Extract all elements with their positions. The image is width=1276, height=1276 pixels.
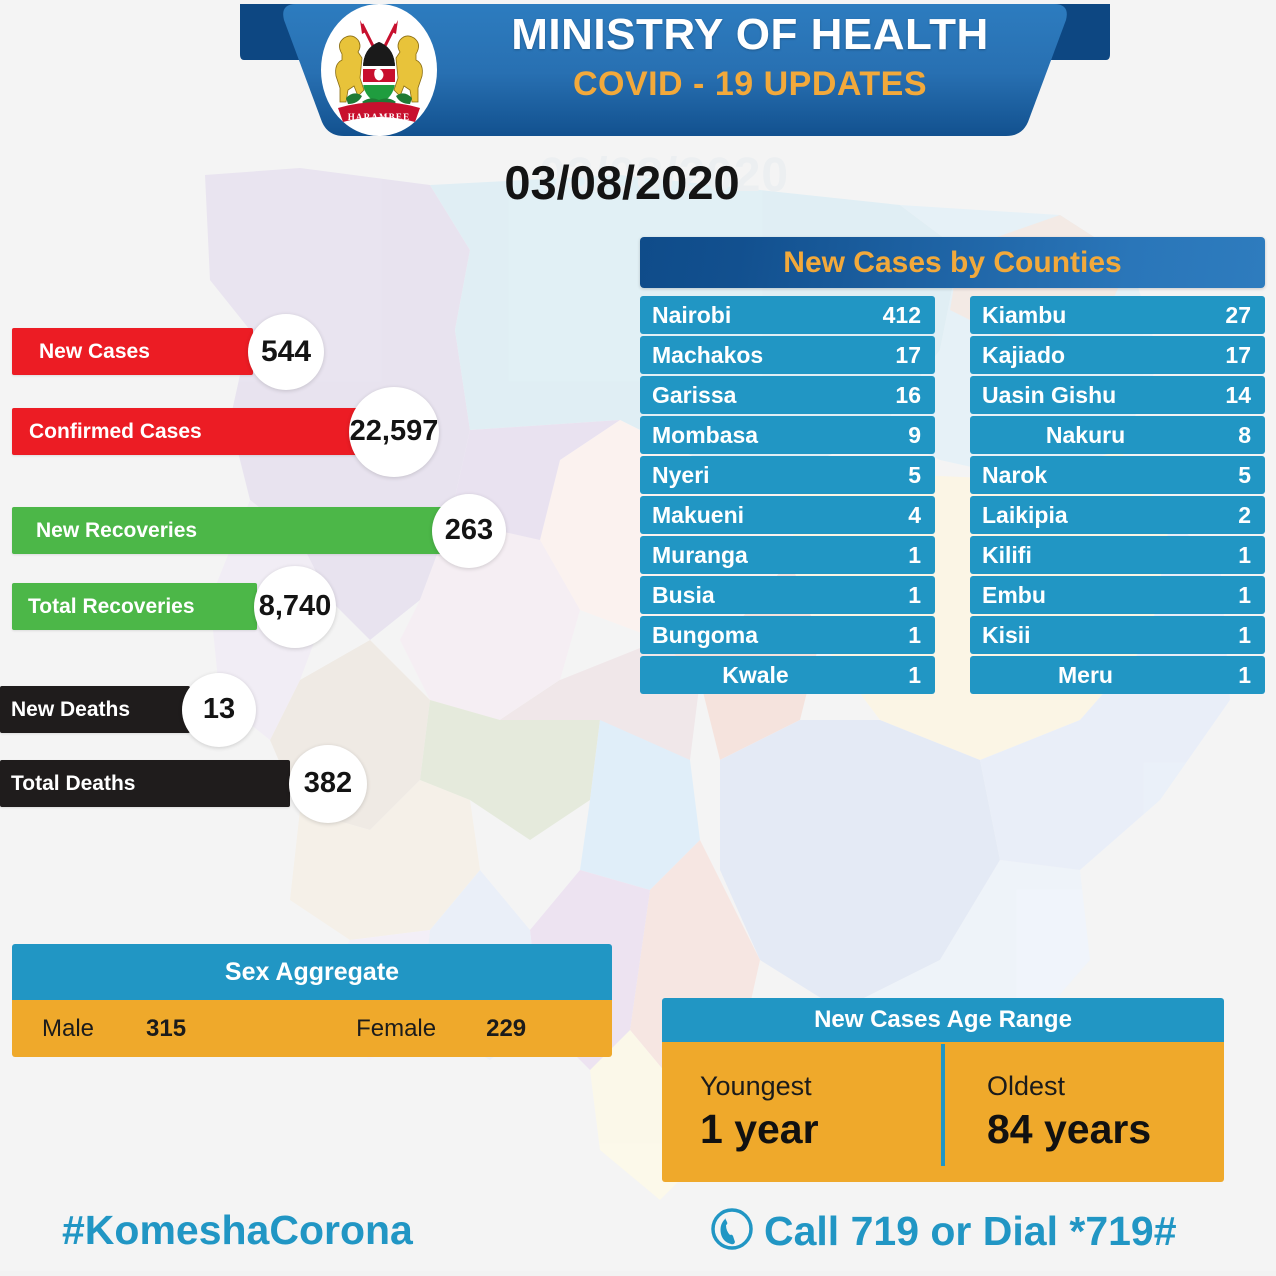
county-row[interactable]: Embu1 [970, 576, 1265, 614]
counties-panel-title: New Cases by Counties [783, 246, 1121, 280]
stat-label: New Deaths [11, 698, 130, 722]
youngest-value: 1 year [700, 1106, 937, 1153]
county-name: Makueni [652, 502, 863, 529]
county-row[interactable]: Garissa16 [640, 376, 935, 414]
county-row[interactable]: Makueni4 [640, 496, 935, 534]
hashtag-komeshacorona: #KomeshaCorona [62, 1207, 413, 1254]
stat-new-cases: New Cases 544 [12, 328, 352, 375]
county-value: 5 [1193, 462, 1251, 489]
county-name: Garissa [652, 382, 863, 409]
county-value: 2 [1193, 502, 1251, 529]
county-name: Busia [652, 582, 863, 609]
stat-value: 13 [203, 693, 235, 726]
county-value: 17 [863, 342, 921, 369]
county-value: 14 [1193, 382, 1251, 409]
stat-label: Total Deaths [11, 772, 135, 796]
county-value: 1 [863, 582, 921, 609]
county-name: Embu [982, 582, 1193, 609]
county-name: Machakos [652, 342, 863, 369]
new-cases-by-counties-panel: New Cases by Counties Nairobi412 Machako… [640, 237, 1265, 696]
county-value: 1 [1193, 662, 1251, 689]
age-range-divider [941, 1044, 945, 1166]
county-name: Bungoma [652, 622, 863, 649]
county-row[interactable]: Meru1 [970, 656, 1265, 694]
county-row[interactable]: Narok5 [970, 456, 1265, 494]
county-value: 5 [863, 462, 921, 489]
county-row[interactable]: Nyeri5 [640, 456, 935, 494]
county-row[interactable]: Kajiado17 [970, 336, 1265, 374]
stat-value-bubble: 544 [248, 314, 324, 390]
county-value: 1 [1193, 542, 1251, 569]
county-value: 4 [863, 502, 921, 529]
county-value: 412 [863, 302, 921, 329]
stat-label: New Recoveries [36, 519, 197, 543]
report-date: 03/08/2020 [0, 155, 1260, 210]
stat-value: 544 [261, 335, 311, 369]
county-name: Mombasa [652, 422, 863, 449]
header-text-group: MINISTRY OF HEALTH COVID - 19 UPDATES [420, 8, 1080, 106]
county-row[interactable]: Busia1 [640, 576, 935, 614]
oldest-label: Oldest [987, 1071, 1224, 1102]
svg-text:HARAMBEE: HARAMBEE [348, 112, 411, 122]
county-value: 27 [1193, 302, 1251, 329]
stat-label: Total Recoveries [28, 595, 195, 619]
county-name: Kilifi [982, 542, 1193, 569]
female-value: 229 [486, 1015, 526, 1043]
county-name: Kajiado [982, 342, 1193, 369]
stat-value-bubble: 8,740 [254, 566, 336, 648]
call-text: Call 719 or Dial *719# [764, 1208, 1177, 1255]
county-name: Uasin Gishu [982, 382, 1193, 409]
stat-value: 22,597 [350, 415, 439, 448]
county-name: Nairobi [652, 302, 863, 329]
age-range-title: New Cases Age Range [662, 998, 1224, 1042]
county-name: Meru [982, 662, 1193, 689]
county-row[interactable]: Nairobi412 [640, 296, 935, 334]
county-name: Kiambu [982, 302, 1193, 329]
counties-column-right: Kiambu27 Kajiado17 Uasin Gishu14 Nakuru8… [970, 296, 1265, 696]
county-value: 16 [863, 382, 921, 409]
stat-value-bubble: 13 [182, 673, 256, 747]
oldest-block: Oldest 84 years [937, 1042, 1224, 1182]
county-value: 1 [1193, 622, 1251, 649]
female-label: Female [356, 1015, 436, 1043]
county-row[interactable]: Mombasa9 [640, 416, 935, 454]
phone-circle-icon [710, 1207, 754, 1256]
sex-aggregate-title: Sex Aggregate [12, 944, 612, 1000]
county-row[interactable]: Machakos17 [640, 336, 935, 374]
county-value: 1 [863, 622, 921, 649]
county-row[interactable]: Kilifi1 [970, 536, 1265, 574]
county-row[interactable]: Muranga1 [640, 536, 935, 574]
county-row[interactable]: Kisii1 [970, 616, 1265, 654]
stat-new-deaths: New Deaths 13 [0, 686, 320, 733]
county-value: 1 [863, 542, 921, 569]
youngest-label: Youngest [700, 1071, 937, 1102]
stat-value-bubble: 22,597 [349, 387, 439, 477]
county-value: 1 [863, 662, 921, 689]
page-title: MINISTRY OF HEALTH [420, 8, 1080, 62]
county-name: Kisii [982, 622, 1193, 649]
stat-total-recoveries: Total Recoveries 8,740 [12, 583, 392, 630]
county-name: Muranga [652, 542, 863, 569]
county-row[interactable]: Laikipia2 [970, 496, 1265, 534]
county-value: 17 [1193, 342, 1251, 369]
age-range-values: Youngest 1 year Oldest 84 years [662, 1042, 1224, 1182]
stat-label: New Cases [39, 340, 150, 364]
county-row[interactable]: Uasin Gishu14 [970, 376, 1265, 414]
stat-confirmed-cases: Confirmed Cases 22,597 [12, 408, 472, 455]
age-range-panel: New Cases Age Range Youngest 1 year Olde… [662, 998, 1224, 1182]
county-value: 1 [1193, 582, 1251, 609]
county-row[interactable]: Nakuru8 [970, 416, 1265, 454]
stat-value-bubble: 382 [289, 745, 367, 823]
call-info: Call 719 or Dial *719# [710, 1207, 1177, 1256]
stat-new-recoveries: New Recoveries 263 [12, 507, 532, 554]
counties-column-left: Nairobi412 Machakos17 Garissa16 Mombasa9… [640, 296, 935, 696]
county-name: Laikipia [982, 502, 1193, 529]
oldest-value: 84 years [987, 1106, 1224, 1153]
page-subtitle: COVID - 19 UPDATES [420, 62, 1080, 106]
male-value: 315 [146, 1015, 186, 1043]
kenya-coat-of-arms-icon: HARAMBEE [312, 2, 446, 138]
header-banner: MINISTRY OF HEALTH COVID - 19 UPDATES [240, 0, 1110, 142]
male-label: Male [42, 1015, 94, 1043]
county-value: 9 [863, 422, 921, 449]
county-name: Narok [982, 462, 1193, 489]
sex-aggregate-values: Male 315 Female 229 [12, 1000, 612, 1057]
footer: #KomeshaCorona Call 719 or Dial *719# [0, 1201, 1276, 1265]
county-name: Nakuru [982, 422, 1193, 449]
stat-value: 263 [445, 514, 493, 547]
county-row[interactable]: Kwale1 [640, 656, 935, 694]
sex-aggregate-panel: Sex Aggregate Male 315 Female 229 [12, 944, 612, 1057]
counties-panel-header: New Cases by Counties [640, 237, 1265, 288]
county-name: Kwale [652, 662, 863, 689]
stat-value-bubble: 263 [432, 494, 506, 568]
stat-value: 382 [304, 767, 352, 800]
county-name: Nyeri [652, 462, 863, 489]
stat-label: Confirmed Cases [29, 420, 202, 444]
county-row[interactable]: Kiambu27 [970, 296, 1265, 334]
stat-total-deaths: Total Deaths 382 [0, 760, 400, 807]
county-value: 8 [1193, 422, 1251, 449]
county-row[interactable]: Bungoma1 [640, 616, 935, 654]
youngest-block: Youngest 1 year [662, 1042, 937, 1182]
stat-value: 8,740 [259, 590, 332, 623]
